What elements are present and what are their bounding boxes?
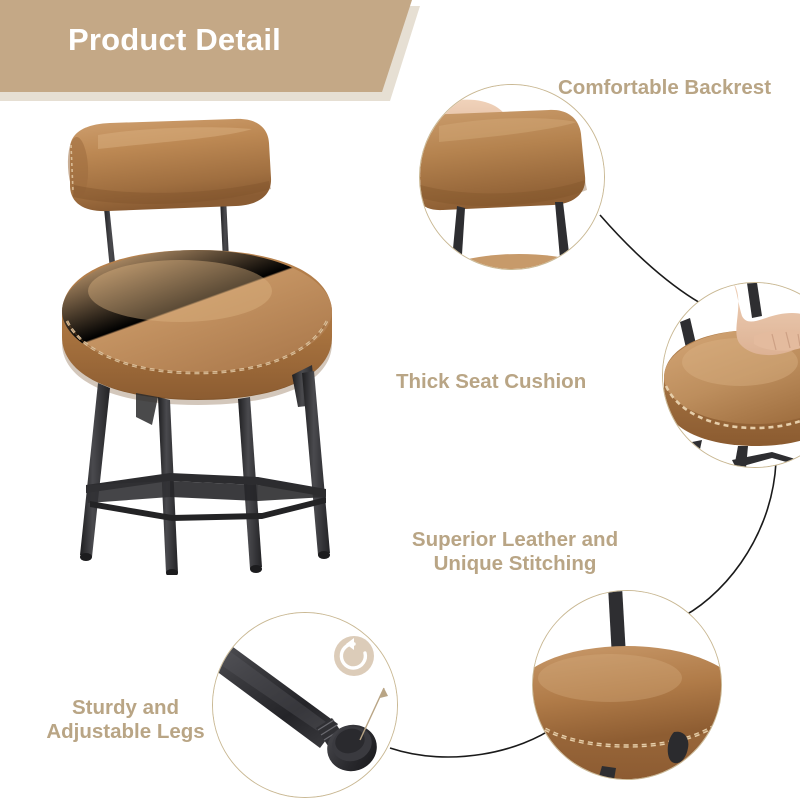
page-title: Product Detail — [68, 22, 281, 58]
hero-product-image — [40, 105, 370, 575]
callout-legs — [212, 612, 398, 798]
callout-backrest — [419, 84, 605, 270]
callout-backrest-image — [419, 84, 605, 270]
callout-legs-label: Sturdy and Adjustable Legs — [24, 696, 227, 744]
rotate-icon — [333, 635, 375, 677]
callout-cushion — [662, 282, 800, 468]
callout-leather-label: Superior Leather and Unique Stitching — [393, 528, 637, 576]
callout-cushion-label: Thick Seat Cushion — [396, 370, 586, 394]
callout-leather-image — [532, 590, 722, 780]
product-detail-page: Product Detail — [0, 0, 800, 800]
callout-cushion-image — [662, 282, 800, 468]
connector-legs-to-leather — [390, 726, 556, 757]
callout-leather — [532, 590, 722, 780]
callout-backrest-label: Comfortable Backrest — [558, 76, 771, 100]
